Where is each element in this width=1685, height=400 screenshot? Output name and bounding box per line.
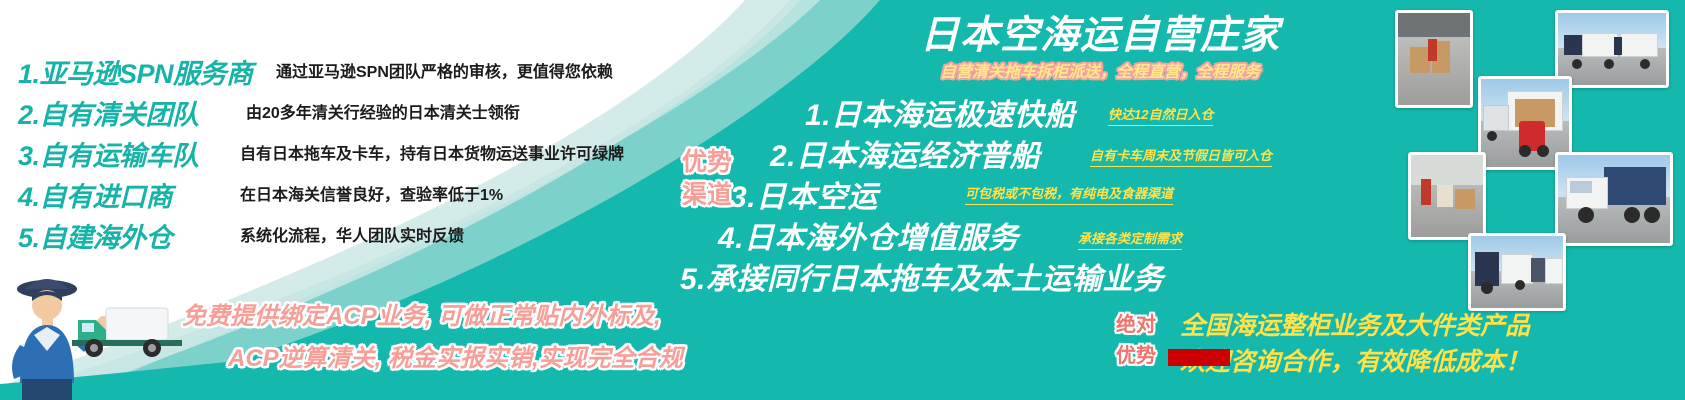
service-item: 3.日本空运 — [730, 172, 878, 216]
promo-right-line1: 全国海运整柜业务及大件类产品 — [1180, 308, 1685, 344]
left-feature-desc: 通过亚马逊SPN团队严格的审核，更值得您依赖 — [276, 58, 613, 82]
photo-container-truck-white — [1555, 152, 1673, 246]
photo-truck-fleet-parked — [1555, 10, 1669, 88]
service-note: 自有卡车周末及节假日皆可入仓 — [1090, 145, 1272, 167]
left-feature-title: 2.自有清关团队 — [18, 93, 199, 132]
promo-left-line2: ACP逆算清关, 税金实报实销,实现完全合规 — [228, 338, 802, 380]
left-feature-title: 1.亚马逊SPN服务商 — [18, 52, 253, 91]
left-feature-item: 5.自建海外仓 系统化流程，华人团队实时反馈 — [18, 216, 658, 257]
green-truck-icon — [72, 300, 187, 362]
left-feature-desc: 系统化流程，华人团队实时反馈 — [240, 222, 464, 246]
service-note: 可包税或不包税，有纯电及食器渠道 — [965, 183, 1173, 205]
left-feature-item: 4.自有进口商 在日本海关信誉良好，查验率低于1% — [18, 175, 658, 216]
service-title: 1.日本海运极速快船 — [805, 99, 1075, 132]
left-feature-title: 5.自建海外仓 — [18, 216, 172, 255]
left-feature-title: 4.自有进口商 — [18, 175, 172, 214]
service-title: 4.日本海外仓增值服务 — [718, 222, 1019, 255]
promo-right-line2: 欢迎咨询合作，有效降低成本！ — [1180, 344, 1685, 380]
left-feature-desc: 自有日本拖车及卡车，持有日本货物运送事业许可绿牌 — [240, 140, 624, 164]
promo-left-text: 免费提供绑定ACP业务, 可做正常贴内外标及, ACP逆算清关, 税金实报实销,… — [182, 296, 802, 380]
photo-warehouse-staff-cargo — [1408, 152, 1486, 240]
left-feature-desc: 由20多年清关行经验的日本清关士领衔 — [246, 99, 520, 123]
service-title: 2.日本海运经济普船 — [770, 140, 1040, 173]
left-feature-item: 2.自有清关团队 由20多年清关行经验的日本清关士领衔 — [18, 93, 658, 134]
banner-subheadline: 自营清关拖车拆柜派送，全程直营，全程服务 — [880, 58, 1320, 82]
left-feature-list: 1.亚马逊SPN服务商 通过亚马逊SPN团队严格的审核，更值得您依赖 2.自有清… — [18, 52, 658, 257]
banner-headline: 日本空海运自营庄家 — [900, 4, 1300, 60]
left-feature-title: 3.自有运输车队 — [18, 134, 199, 173]
service-note: 快达12自然日入仓 — [1108, 104, 1213, 126]
promo-right-text: 全国海运整柜业务及大件类产品 欢迎咨询合作，有效降低成本！ — [1180, 308, 1685, 380]
redaction-bar — [1168, 349, 1230, 366]
service-item: 2.日本海运经济普船 — [770, 131, 1040, 175]
service-title: 3.日本空运 — [730, 181, 878, 214]
promo-left-line1: 免费提供绑定ACP业务, 可做正常贴内外标及, — [182, 296, 802, 338]
absolute-badge-line2: 优势 — [1105, 341, 1167, 372]
left-feature-item: 3.自有运输车队 自有日本拖车及卡车，持有日本货物运送事业许可绿牌 — [18, 134, 658, 175]
service-item: 5.承接同行日本拖车及本土运输业务 — [680, 254, 1164, 298]
service-title: 5.承接同行日本拖车及本土运输业务 — [680, 263, 1164, 296]
service-item: 1.日本海运极速快船 — [805, 90, 1075, 134]
service-note: 承接各类定制需求 — [1078, 228, 1182, 250]
absolute-badge-line1: 绝对 — [1105, 310, 1167, 341]
photo-warehouse-worker-pallet — [1395, 10, 1473, 108]
absolute-advantage-badge: 绝对 优势 — [1105, 310, 1167, 372]
photo-truck-row-yard — [1468, 233, 1566, 311]
left-feature-item: 1.亚马逊SPN服务商 通过亚马逊SPN团队严格的审核，更值得您依赖 — [18, 52, 658, 93]
service-item: 4.日本海外仓增值服务 — [718, 213, 1019, 257]
left-feature-desc: 在日本海关信誉良好，查验率低于1% — [240, 181, 503, 205]
promotional-banner: 1.亚马逊SPN服务商 通过亚马逊SPN团队严格的审核，更值得您依赖 2.自有清… — [0, 0, 1685, 400]
